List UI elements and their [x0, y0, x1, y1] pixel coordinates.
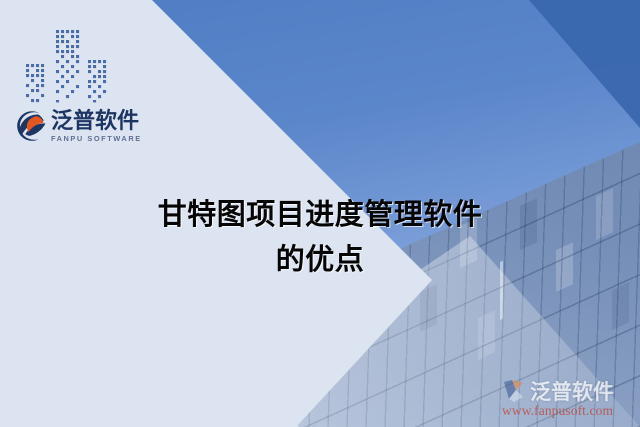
- watermark-name: 泛普软件: [530, 376, 614, 406]
- watermark-url: www.fanpusoft.com: [502, 403, 640, 419]
- watermark: 泛普软件 www.fanpusoft.com: [502, 378, 640, 422]
- logo-chinese-name: 泛普软件: [51, 109, 142, 132]
- fanpu-swoosh-logo-icon: [16, 110, 48, 142]
- dot-matrix-skyline-icon: [24, 26, 116, 104]
- page-title-line-1: 甘特图项目进度管理软件: [0, 192, 640, 237]
- page-title: 甘特图项目进度管理软件 的优点: [0, 192, 640, 282]
- brand-logo: 泛普软件 FANPU SOFTWARE: [16, 101, 134, 151]
- logo-english-name: FANPU SOFTWARE: [51, 134, 142, 143]
- promo-banner: 泛普软件 FANPU SOFTWARE 甘特图项目进度管理软件 的优点 泛普软件…: [0, 0, 640, 427]
- fanpu-watermark-logo-icon: [502, 379, 528, 403]
- page-title-line-2: 的优点: [0, 237, 640, 282]
